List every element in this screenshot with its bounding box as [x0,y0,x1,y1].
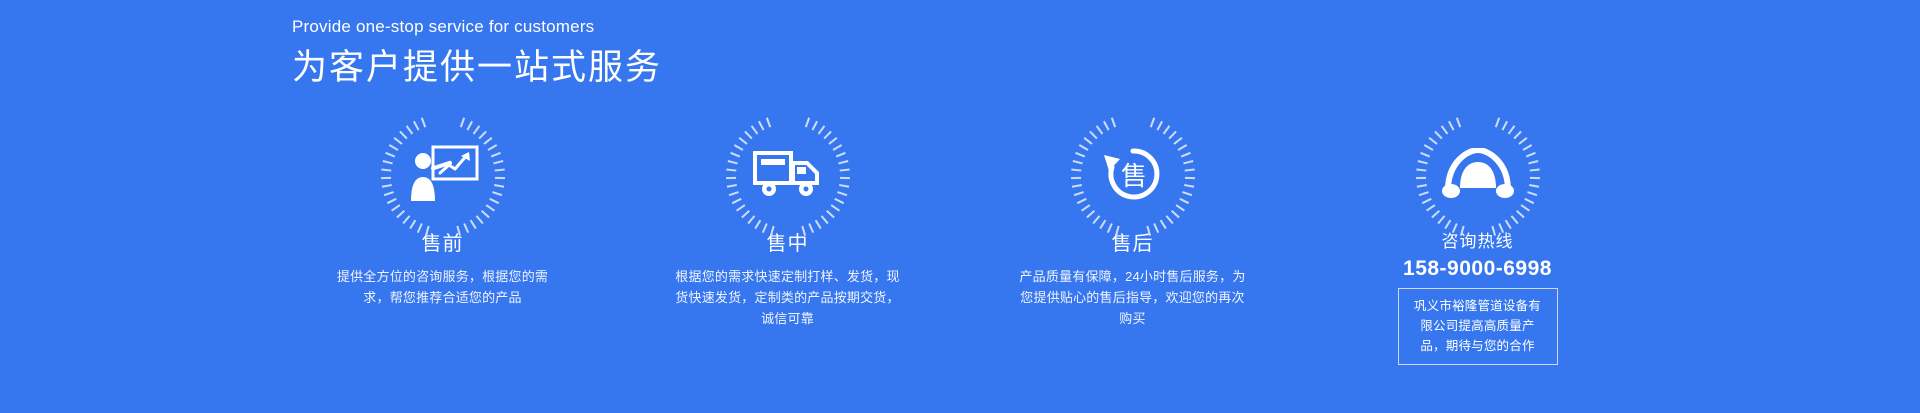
hotline-number[interactable]: 158-9000-6998 [1403,255,1552,282]
page-title: 为客户提供一站式服务 [292,46,1192,90]
icon-wrapper [722,110,854,224]
icon-wrapper [1412,110,1544,224]
service-column-presale[interactable]: 售前 提供全方位的咨询服务，根据您的需求，帮您推荐合适您的产品 [270,110,615,308]
column-description: 提供全方位的咨询服务，根据您的需求，帮您推荐合适您的产品 [328,266,558,308]
column-description: 产品质量有保障，24小时售后服务，为您提供贴心的售后指导，欢迎您的再次购买 [1018,266,1248,329]
after-sales-refresh-icon: 售 [1096,137,1170,211]
delivery-truck-icon [751,137,825,211]
icon-wrapper [377,110,509,224]
promo-banner: Provide one-stop service for customers 为… [0,0,1920,413]
heading-block: Provide one-stop service for customers 为… [292,16,1192,90]
svg-text:售: 售 [1120,161,1146,191]
telephone-icon [1441,137,1515,211]
service-columns: 售前 提供全方位的咨询服务，根据您的需求，帮您推荐合适您的产品 [270,110,1650,365]
presentation-chart-icon [406,137,480,211]
column-description: 根据您的需求快速定制打样、发货，现货快速发货，定制类的产品按期交货，诚信可靠 [673,266,903,329]
icon-wrapper: 售 [1067,110,1199,224]
subtitle-english: Provide one-stop service for customers [292,16,1192,38]
company-note-box: 巩义市裕隆管道设备有限公司提高高质量产品，期待与您的合作 [1398,288,1558,365]
service-column-aftersale[interactable]: 售 售后 产品质量有保障，24小时售后服务，为您提供贴心的售后指导，欢迎您的再次… [960,110,1305,329]
service-column-insale[interactable]: 售中 根据您的需求快速定制打样、发货，现货快速发货，定制类的产品按期交货，诚信可… [615,110,960,329]
service-column-hotline[interactable]: 咨询热线 158-9000-6998 巩义市裕隆管道设备有限公司提高高质量产品，… [1305,110,1650,365]
